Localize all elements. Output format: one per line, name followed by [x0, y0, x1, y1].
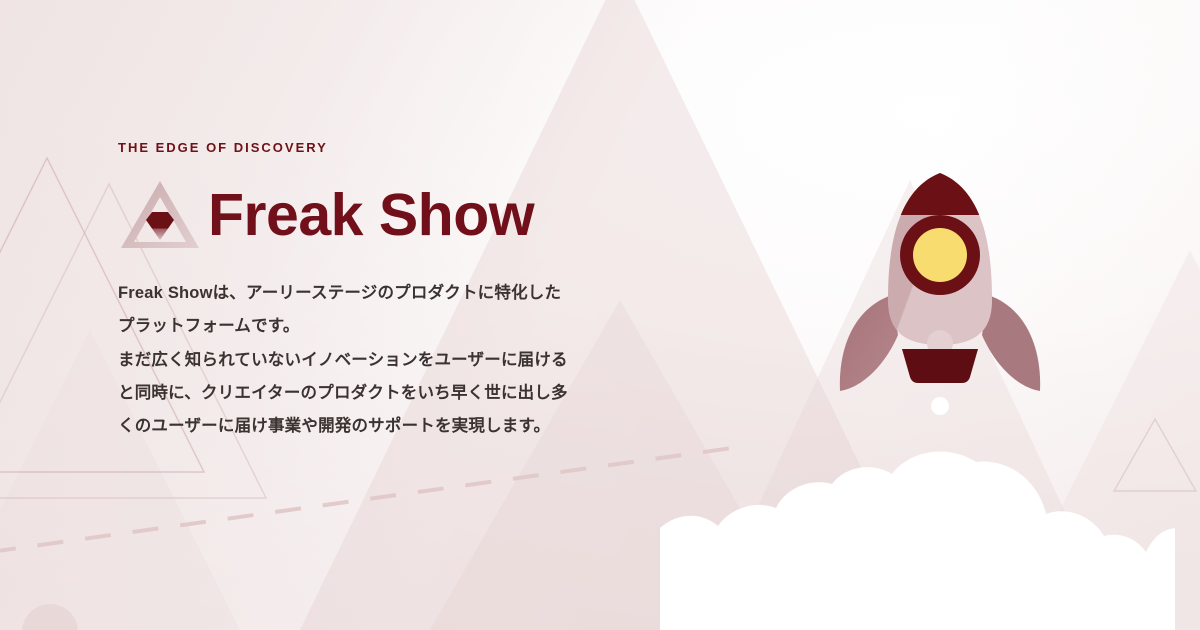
hero-description: Freak Showは、アーリーステージのプロダクトに特化した プラットフォーム… — [118, 277, 678, 444]
hero-eyebrow: THE EDGE OF DISCOVERY — [118, 140, 678, 155]
dashed-diagonal-line — [0, 440, 740, 560]
corner-circle-decoration — [22, 604, 78, 630]
hero-banner: THE EDGE OF DISCOVERY — [0, 0, 1200, 630]
hero-description-line: まだ広く知られていないイノベーションをユーザーに届ける — [118, 344, 678, 377]
cloud-icon — [660, 400, 1200, 630]
triangle-gem-logo-icon — [118, 178, 202, 252]
page-title: Freak Show — [208, 186, 534, 245]
hero-description-line: くのユーザーに届け事業や開発のサポートを実現します。 — [118, 410, 678, 443]
hero-description-line: プラットフォームです。 — [118, 310, 678, 343]
brand-lockup: Freak Show — [118, 177, 678, 253]
hero-content: THE EDGE OF DISCOVERY — [118, 140, 678, 444]
rocket-icon — [820, 95, 1060, 415]
hero-description-line: と同時に、クリエイターのプロダクトをいち早く世に出し多 — [118, 377, 678, 410]
hero-description-line: Freak Showは、アーリーステージのプロダクトに特化した — [118, 277, 678, 310]
